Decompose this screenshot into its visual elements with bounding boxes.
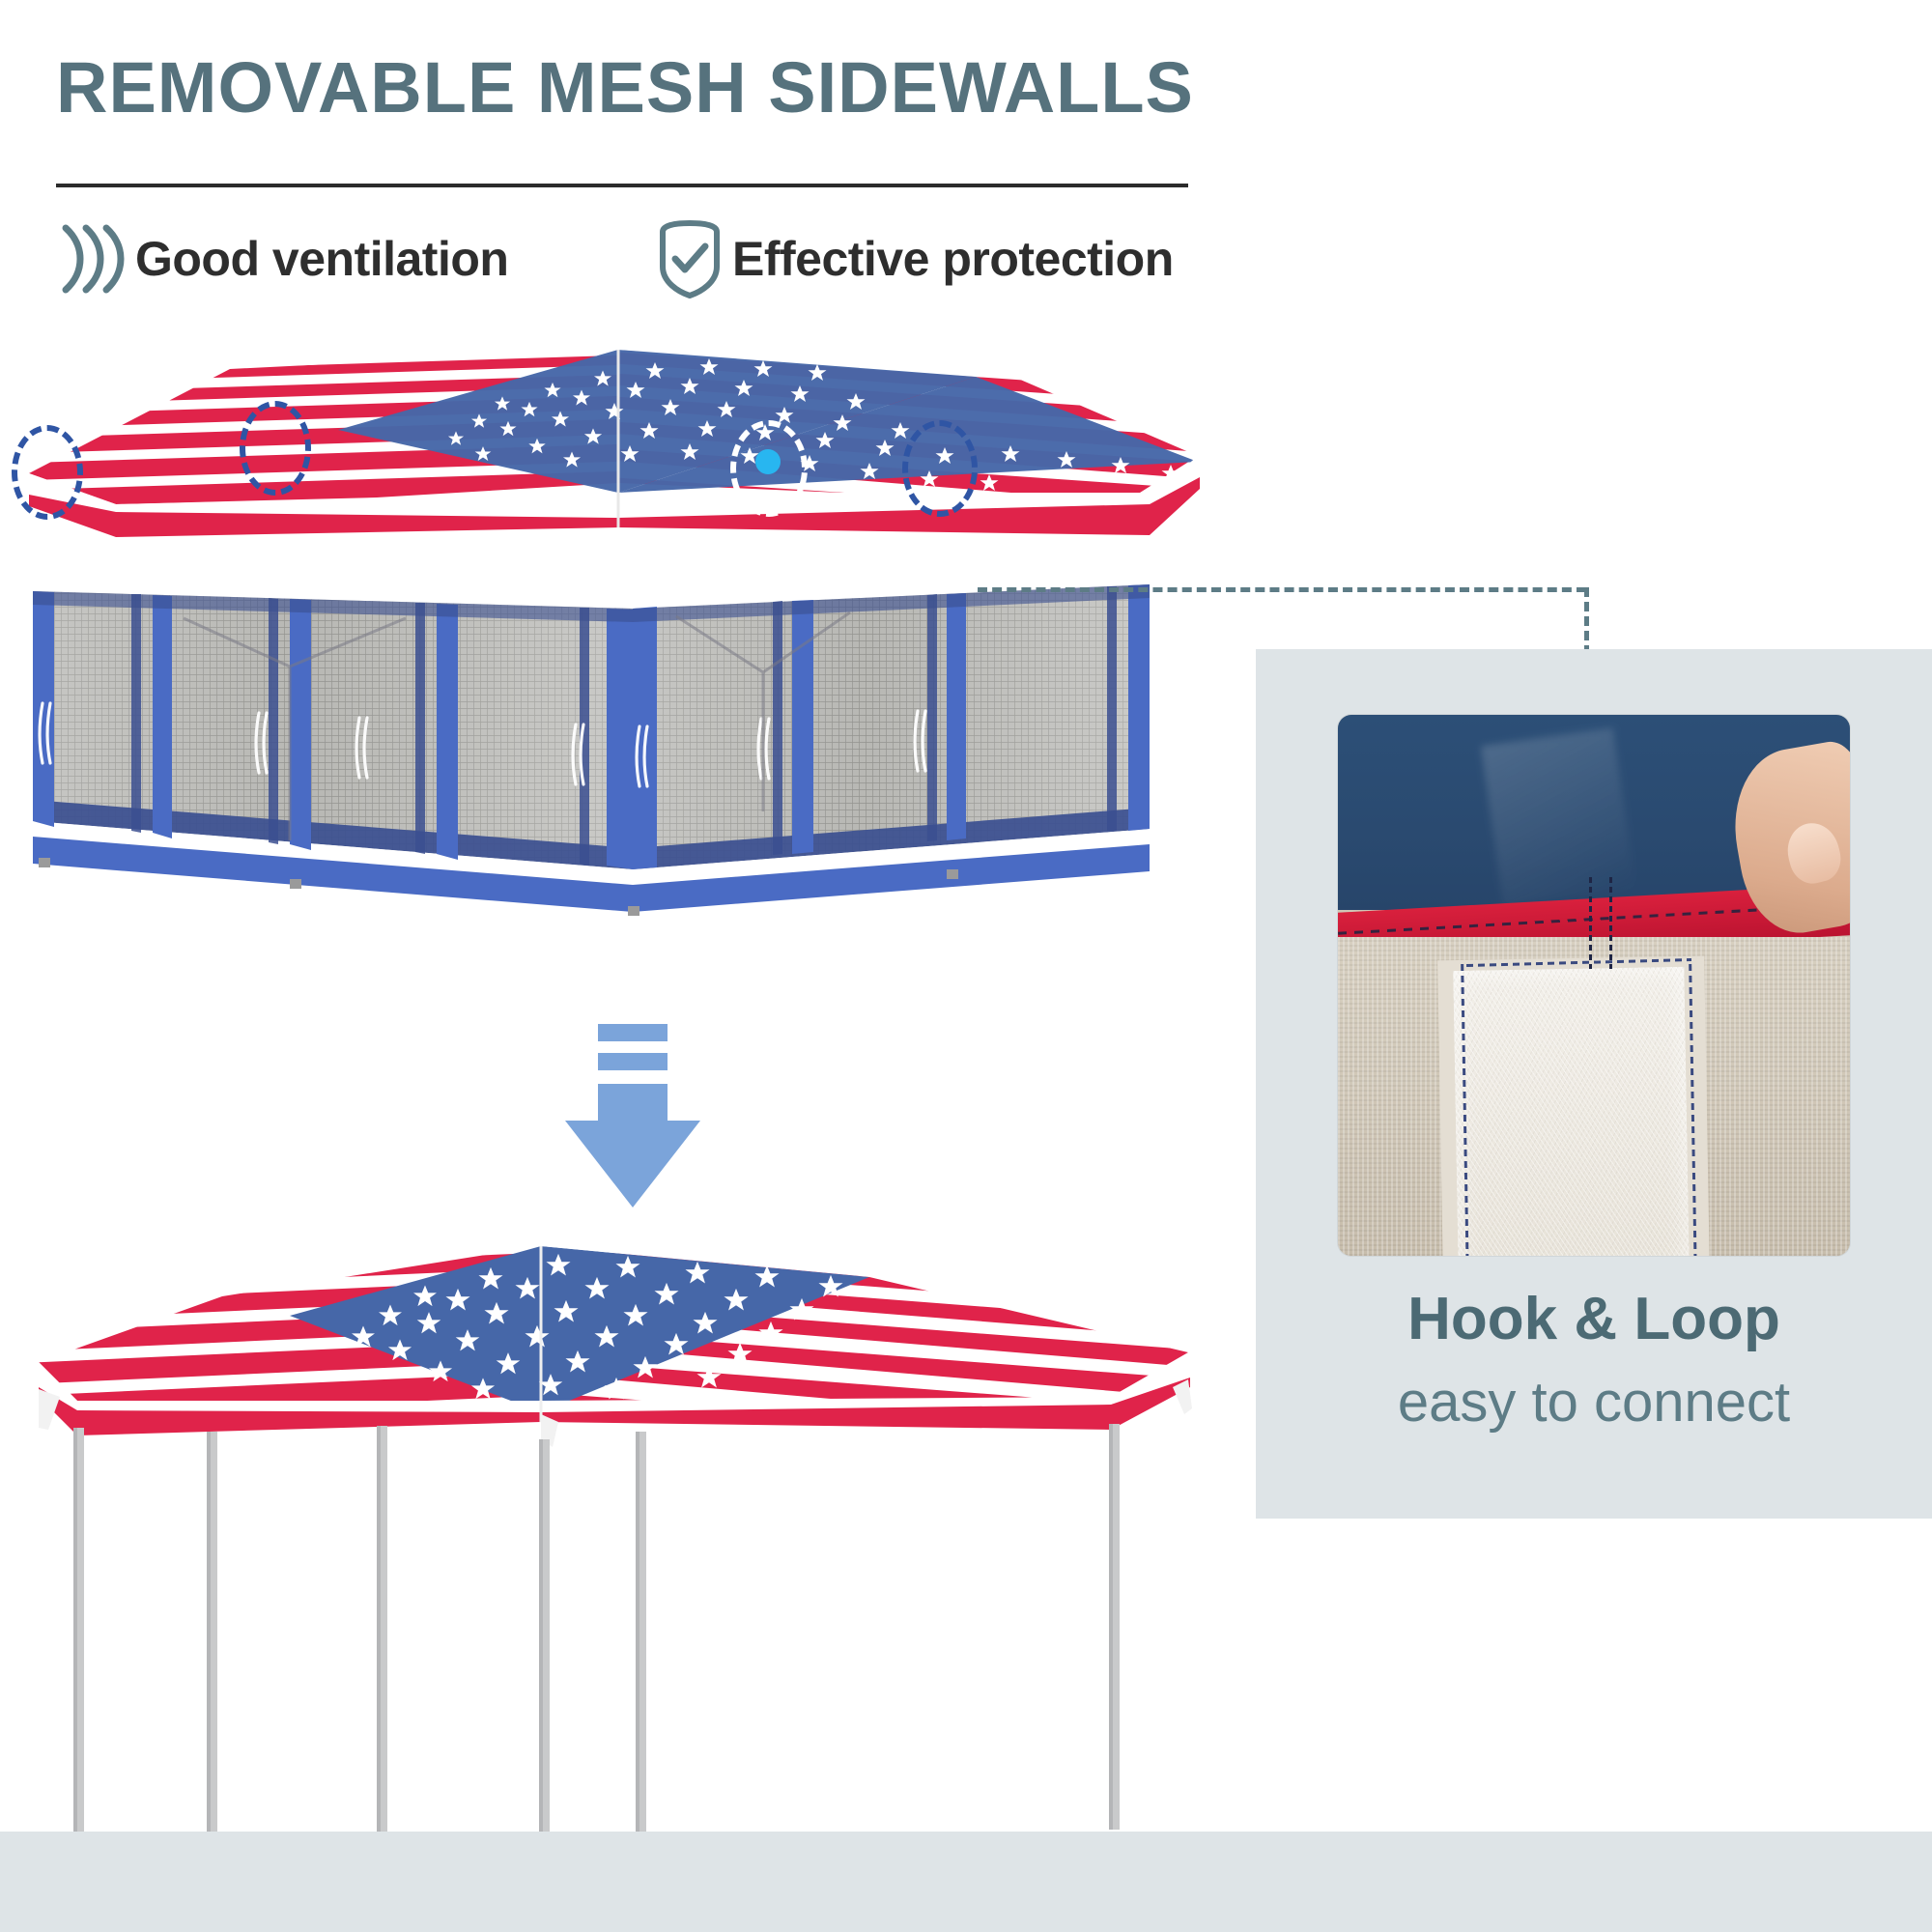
feature-effective-protection: Effective protection bbox=[655, 220, 1174, 298]
arrow-bar-top bbox=[598, 1024, 668, 1041]
panel-subtitle: easy to connect bbox=[1256, 1370, 1932, 1435]
callout-connector-horizontal bbox=[978, 587, 1586, 592]
transform-down-arrow bbox=[565, 1024, 700, 1207]
infographic-canvas: REMOVABLE MESH SIDEWALLS Good ventilatio… bbox=[0, 0, 1932, 1932]
panel-title: Hook & Loop bbox=[1256, 1285, 1932, 1353]
attach-point-marker-2 bbox=[240, 401, 311, 496]
bottom-band bbox=[0, 1832, 1932, 1932]
ventilation-waves-icon bbox=[56, 220, 131, 298]
shield-check-icon bbox=[655, 218, 724, 299]
tent-without-sidewalls bbox=[0, 1207, 1227, 1864]
callout-connector-vertical bbox=[1584, 587, 1589, 655]
feature-good-ventilation: Good ventilation bbox=[56, 220, 508, 298]
hook-and-loop-fastener-photo bbox=[1338, 715, 1850, 1256]
tent-mesh-sidewalls bbox=[0, 580, 1227, 995]
attach-point-dot bbox=[755, 449, 781, 474]
page-title: REMOVABLE MESH SIDEWALLS bbox=[56, 46, 1194, 128]
arrow-head bbox=[565, 1121, 700, 1207]
attach-point-marker-1 bbox=[12, 425, 83, 520]
arrow-bar-mid bbox=[598, 1053, 668, 1070]
feature-label: Good ventilation bbox=[135, 231, 508, 287]
title-divider bbox=[56, 184, 1188, 187]
feature-label: Effective protection bbox=[732, 231, 1174, 287]
attach-point-marker-4 bbox=[902, 420, 978, 517]
